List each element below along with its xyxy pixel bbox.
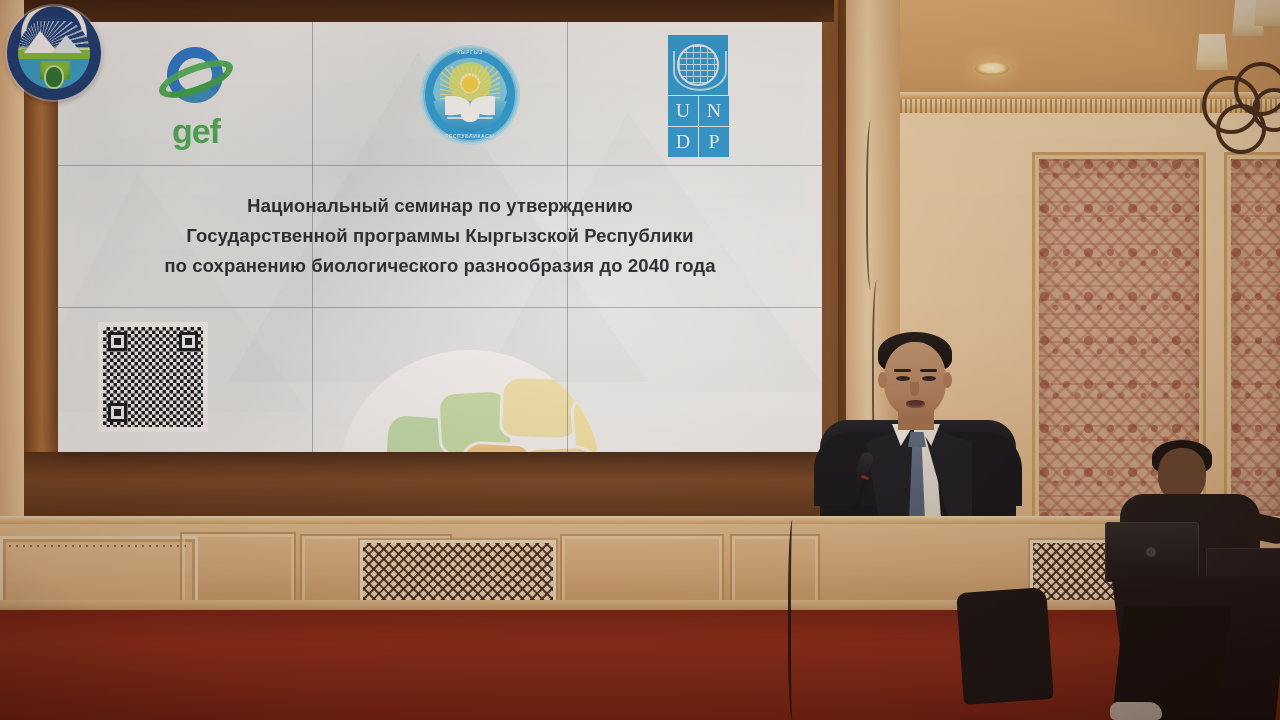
eye <box>896 376 910 381</box>
kyrgyz-republic-coat-of-arms: КЫРГЫЗ РЕСПУБЛИКАСЫ <box>410 34 530 156</box>
wainscot-cap-rail <box>0 516 1280 524</box>
nose <box>910 382 919 396</box>
screen-panel-seam <box>312 22 313 452</box>
presentation-video-wall[interactable]: gef КЫРГЫЗ РЕСПУБЛИКАСЫ <box>58 22 822 452</box>
shoe <box>1110 702 1162 720</box>
gef-globe-icon <box>159 45 233 113</box>
lamp-shade <box>1254 0 1280 26</box>
laptop-logo <box>1146 547 1156 557</box>
panel-trim <box>9 545 189 607</box>
undp-letter-p: P <box>699 127 729 157</box>
qr-finder-bottom-left <box>108 403 127 422</box>
ministry-emblem-watermark <box>7 6 101 100</box>
coa-ring: КЫРГЫЗ РЕСПУБЛИКАСЫ <box>422 47 518 143</box>
gef-logo-text: gef <box>172 115 220 149</box>
av-technician-station <box>1110 430 1280 720</box>
eye <box>922 376 936 381</box>
mosaic-cell <box>570 392 600 452</box>
necktie-knot <box>908 432 926 447</box>
lamp-shade <box>1196 34 1228 70</box>
screen-panel-seam <box>58 165 822 166</box>
floor-cable <box>788 520 799 720</box>
qr-finder-top-right <box>179 332 198 351</box>
un-emblem-icon <box>668 35 728 95</box>
laptop[interactable] <box>1105 522 1199 582</box>
undp-logo-stack: U N D P <box>668 35 728 157</box>
gef-logo: gef <box>86 38 306 156</box>
equipment-bag <box>956 587 1054 705</box>
undp-letter-n: N <box>699 96 729 126</box>
slide-logo-row: gef КЫРГЫЗ РЕСПУБЛИКАСЫ <box>58 22 822 165</box>
slide-title-block: Национальный семинар по утверждению Госу… <box>58 165 822 307</box>
coa-ring-text-bottom: РЕСПУБЛИКАСЫ <box>422 134 518 140</box>
ear <box>878 372 887 388</box>
wall-cable <box>866 120 878 290</box>
mountain-icon <box>52 35 82 53</box>
undp-letter-u: U <box>668 96 698 126</box>
screen-frame-top <box>22 0 834 22</box>
screen-frame-bottom <box>22 452 834 522</box>
chandelier-scroll <box>1216 104 1266 154</box>
emblem-inner <box>18 17 90 89</box>
eyebrow <box>920 369 937 372</box>
recessed-ceiling-light <box>975 62 1009 75</box>
conference-photo-scene: gef КЫРГЫЗ РЕСПУБЛИКАСЫ <box>0 0 1280 720</box>
ear <box>943 372 952 388</box>
carpet-floor <box>0 610 1280 720</box>
qr-finder-top-left <box>108 332 127 351</box>
slide-title-line-3: по сохранению биологического разнообрази… <box>164 255 715 277</box>
biodiversity-mosaic-graphic <box>340 350 600 452</box>
slide-title-line-2: Государственной программы Кыргызской Рес… <box>186 225 693 247</box>
undp-logo: U N D P <box>598 36 798 156</box>
mouth <box>906 400 925 408</box>
undp-letter-d: D <box>668 127 698 157</box>
mosaic-dome <box>340 350 600 452</box>
leaf-shield-icon <box>46 67 62 87</box>
slide-title-line-1: Национальный семинар по утверждению <box>247 195 633 217</box>
undp-letter-grid: U N D P <box>668 96 728 157</box>
screen-panel-seam <box>567 22 568 452</box>
coa-ring-text-top: КЫРГЫЗ <box>422 50 518 56</box>
qr-code-area[interactable] <box>103 327 219 439</box>
chandelier <box>1196 0 1280 152</box>
un-wreath <box>673 51 727 91</box>
screen-panel-seam <box>58 307 822 308</box>
eyebrow <box>894 369 911 372</box>
coa-disc: КЫРГЫЗ РЕСПУБЛИКАСЫ <box>422 47 518 143</box>
qr-code[interactable] <box>103 327 203 427</box>
